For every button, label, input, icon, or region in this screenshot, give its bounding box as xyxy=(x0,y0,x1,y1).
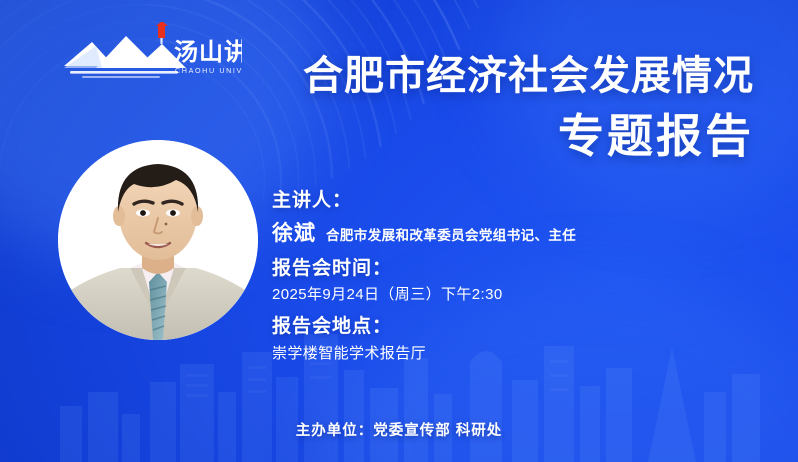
speaker-portrait xyxy=(58,116,258,340)
place-label: 报告会地点： xyxy=(272,314,702,340)
event-poster: 汤山讲坛 CHAOHU UNIVERSITY 合肥市经济社会发展情况 专题报告 xyxy=(0,0,798,462)
spacer xyxy=(272,305,702,314)
spacer xyxy=(272,247,702,256)
event-info-block: 主讲人： 徐斌 合肥市发展和改革委员会党组书记、主任 报告会时间： 2025年9… xyxy=(272,188,702,364)
time-label: 报告会时间： xyxy=(272,256,702,282)
organizer-footer: 主办单位：党委宣传部 科研处 xyxy=(0,419,798,440)
portrait-circle-mask xyxy=(58,140,258,340)
portrait-illustration xyxy=(58,140,258,340)
speaker-name: 徐斌 xyxy=(272,217,316,247)
headline-line-2: 专题报告 xyxy=(303,112,754,162)
logo-cn-text: 汤山讲坛 xyxy=(174,39,242,66)
speaker-row: 徐斌 合肥市发展和改革委员会党组书记、主任 xyxy=(272,217,702,247)
headline-line-1: 合肥市经济社会发展情况 xyxy=(303,55,754,98)
speaker-label: 主讲人： xyxy=(272,188,702,214)
logo-en-text: CHAOHU UNIVERSITY xyxy=(175,66,242,75)
place-value: 崇学楼智能学术报告厅 xyxy=(272,343,702,364)
speaker-role: 合肥市发展和改革委员会党组书记、主任 xyxy=(326,224,576,244)
headline-block: 合肥市经济社会发展情况 专题报告 xyxy=(303,55,754,162)
brand-logo: 汤山讲坛 CHAOHU UNIVERSITY xyxy=(62,22,242,78)
time-value: 2025年9月24日（周三）下午2:30 xyxy=(272,284,702,305)
